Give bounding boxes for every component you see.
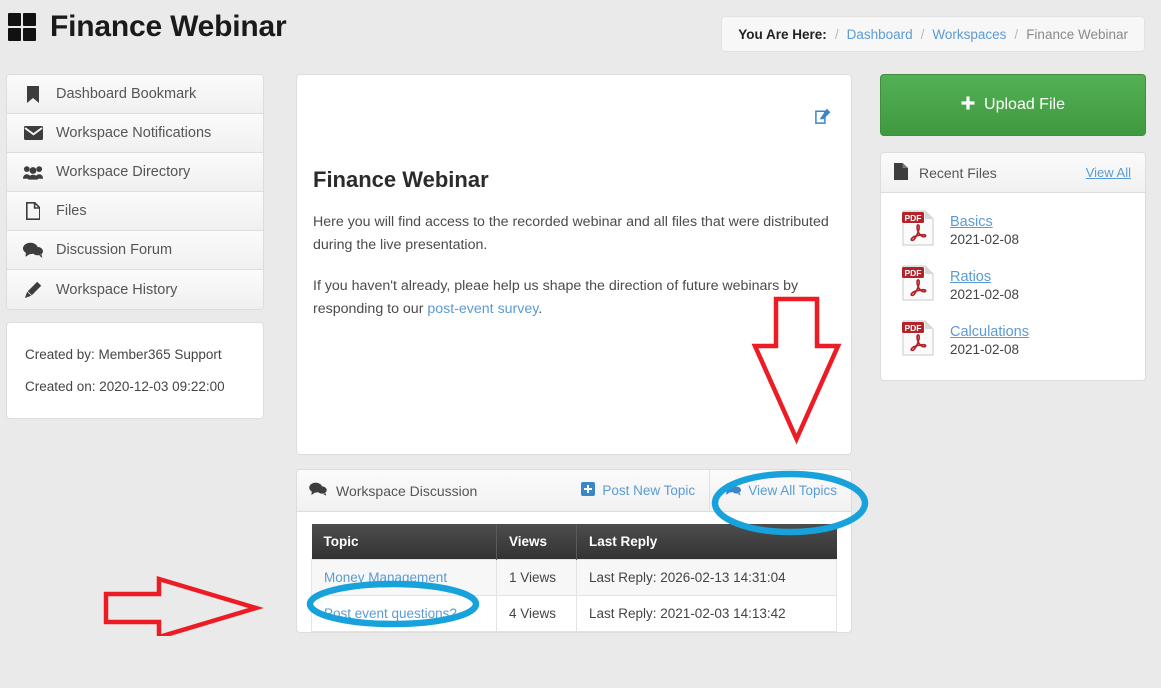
annotation-arrow-right <box>100 572 270 636</box>
column-header-last-reply: Last Reply <box>577 524 837 560</box>
breadcrumb-separator: / <box>835 27 839 42</box>
topics-table: Topic Views Last Reply Money Management … <box>311 524 837 632</box>
discussion-title: Workspace Discussion <box>336 483 477 499</box>
topic-cell: Post event questions? <box>312 596 497 632</box>
sidebar-item-files[interactable]: Files <box>7 192 263 231</box>
sidebar-item-label: Discussion Forum <box>56 242 172 258</box>
file-text: Calculations 2021-02-08 <box>950 324 1029 357</box>
workspace-paragraph-1: Here you will find access to the recorde… <box>313 211 835 257</box>
comments-icon <box>23 242 43 258</box>
comments-icon <box>309 482 327 499</box>
workspace-discussion-card: Workspace Discussion Post New Topic <box>296 469 852 633</box>
created-on-text: Created on: 2020-12-03 09:22:00 <box>25 371 245 403</box>
svg-text:PDF: PDF <box>905 323 922 333</box>
grid-icon <box>8 13 36 41</box>
discussion-title-group: Workspace Discussion <box>309 482 477 499</box>
right-column: Upload File Recent Files View All <box>880 74 1146 381</box>
page-root: Finance Webinar You Are Here: / Dashboar… <box>0 0 1161 688</box>
users-icon <box>23 165 43 180</box>
column-header-topic: Topic <box>312 524 497 560</box>
workspace-meta-box: Created by: Member365 Support Created on… <box>6 322 264 419</box>
file-name-link[interactable]: Ratios <box>950 269 1019 285</box>
file-date: 2021-02-08 <box>950 287 1019 302</box>
views-cell: 4 Views <box>497 596 577 632</box>
sidebar-item-label: Workspace History <box>56 282 177 298</box>
pencil-icon <box>23 281 43 299</box>
discussion-header: Workspace Discussion Post New Topic <box>297 470 851 512</box>
file-name-link[interactable]: Calculations <box>950 324 1029 340</box>
post-new-topic-button[interactable]: Post New Topic <box>567 470 709 512</box>
sidebar-item-workspace-directory[interactable]: Workspace Directory <box>7 153 263 192</box>
pdf-file-icon: PDF <box>899 317 937 364</box>
topic-link-money-management[interactable]: Money Management <box>324 570 447 585</box>
file-date: 2021-02-08 <box>950 232 1019 247</box>
upload-file-button[interactable]: Upload File <box>880 74 1146 136</box>
file-text: Basics 2021-02-08 <box>950 214 1019 247</box>
breadcrumb-label: You Are Here: <box>738 27 827 42</box>
envelope-icon <box>23 126 43 140</box>
workspace-heading: Finance Webinar <box>313 167 835 193</box>
edit-square-icon[interactable] <box>815 108 831 129</box>
breadcrumb: You Are Here: / Dashboard / Workspaces /… <box>721 16 1145 52</box>
post-event-survey-link[interactable]: post-event survey <box>427 301 538 317</box>
topics-table-wrap: Topic Views Last Reply Money Management … <box>297 512 851 632</box>
sidebar-item-label: Workspace Notifications <box>56 125 211 141</box>
list-item[interactable]: PDF Basics 2021-02-08 <box>881 203 1145 258</box>
view-all-topics-label: View All Topics <box>748 483 837 498</box>
plus-icon <box>961 96 975 115</box>
sidebar-menu: Dashboard Bookmark Workspace Notificatio… <box>6 74 264 310</box>
created-by-text: Created by: Member365 Support <box>25 339 245 371</box>
view-all-link[interactable]: View All <box>1086 165 1131 180</box>
file-icon <box>23 202 43 220</box>
sidebar: Dashboard Bookmark Workspace Notificatio… <box>6 74 264 419</box>
svg-text:PDF: PDF <box>905 213 922 223</box>
file-icon <box>894 163 908 183</box>
sidebar-item-label: Dashboard Bookmark <box>56 86 196 102</box>
breadcrumb-separator: / <box>921 27 925 42</box>
sidebar-item-label: Files <box>56 203 87 219</box>
recent-files-title: Recent Files <box>919 165 997 181</box>
column-header-views: Views <box>497 524 577 560</box>
discussion-actions: Post New Topic View All Topics <box>567 470 851 512</box>
breadcrumb-separator: / <box>1014 27 1018 42</box>
paragraph-2-after: . <box>538 301 542 317</box>
file-name-link[interactable]: Basics <box>950 214 1019 230</box>
file-text: Ratios 2021-02-08 <box>950 269 1019 302</box>
file-date: 2021-02-08 <box>950 342 1029 357</box>
topic-link-post-event-questions[interactable]: Post event questions? <box>324 606 457 621</box>
main-column: Finance Webinar Here you will find acces… <box>296 74 852 633</box>
list-item[interactable]: PDF Calculations 2021-02-08 <box>881 313 1145 368</box>
sidebar-item-dashboard-bookmark[interactable]: Dashboard Bookmark <box>7 75 263 114</box>
bookmark-icon <box>23 86 43 103</box>
topics-table-body: Money Management 1 Views Last Reply: 202… <box>312 560 837 632</box>
plus-square-icon <box>581 482 595 499</box>
workspace-paragraph-2: If you haven't already, pleae help us sh… <box>313 275 835 321</box>
comments-icon <box>724 482 741 499</box>
page-heading: Finance Webinar <box>8 10 287 44</box>
recent-files-card: Recent Files View All PDF <box>880 152 1146 381</box>
table-row: Money Management 1 Views Last Reply: 202… <box>312 560 837 596</box>
paragraph-2-before: If you haven't already, pleae help us sh… <box>313 278 798 317</box>
recent-files-header: Recent Files View All <box>881 153 1145 193</box>
topics-header-row: Topic Views Last Reply <box>312 524 837 560</box>
list-item[interactable]: PDF Ratios 2021-02-08 <box>881 258 1145 313</box>
sidebar-item-workspace-notifications[interactable]: Workspace Notifications <box>7 114 263 153</box>
sidebar-item-discussion-forum[interactable]: Discussion Forum <box>7 231 263 270</box>
sidebar-item-label: Workspace Directory <box>56 164 190 180</box>
views-cell: 1 Views <box>497 560 577 596</box>
view-all-topics-button[interactable]: View All Topics <box>709 470 851 512</box>
top-header: Finance Webinar You Are Here: / Dashboar… <box>0 0 1161 66</box>
topics-table-head: Topic Views Last Reply <box>312 524 837 560</box>
post-new-topic-label: Post New Topic <box>602 483 695 498</box>
workspace-description-body: Finance Webinar Here you will find acces… <box>313 75 835 321</box>
workspace-description-card: Finance Webinar Here you will find acces… <box>296 74 852 455</box>
table-row: Post event questions? 4 Views Last Reply… <box>312 596 837 632</box>
breadcrumb-item-workspaces[interactable]: Workspaces <box>932 27 1006 42</box>
pdf-file-icon: PDF <box>899 262 937 309</box>
svg-text:PDF: PDF <box>905 268 922 278</box>
last-reply-cell: Last Reply: 2021-02-03 14:13:42 <box>577 596 837 632</box>
pdf-file-icon: PDF <box>899 207 937 254</box>
breadcrumb-item-current: Finance Webinar <box>1026 27 1128 42</box>
page-title: Finance Webinar <box>50 10 287 44</box>
upload-file-label: Upload File <box>984 96 1065 114</box>
sidebar-item-workspace-history[interactable]: Workspace History <box>7 270 263 309</box>
last-reply-cell: Last Reply: 2026-02-13 14:31:04 <box>577 560 837 596</box>
topic-cell: Money Management <box>312 560 497 596</box>
breadcrumb-item-dashboard[interactable]: Dashboard <box>847 27 913 42</box>
recent-files-list: PDF Basics 2021-02-08 <box>881 193 1145 380</box>
